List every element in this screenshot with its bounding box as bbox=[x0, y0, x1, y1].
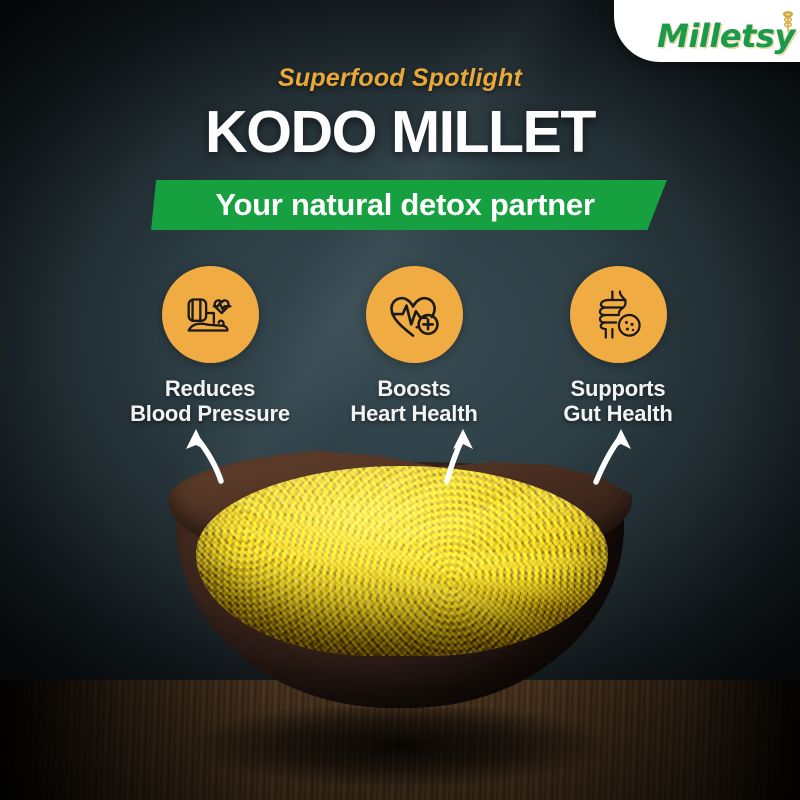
benefit-label-line2: Heart Health bbox=[319, 402, 509, 427]
benefit-icon-circle bbox=[162, 266, 259, 363]
logo-text: Milletsy bbox=[657, 20, 795, 52]
wooden-bowl bbox=[160, 448, 640, 718]
benefit-label: Reduces Blood Pressure bbox=[115, 377, 305, 426]
heart-pulse-plus-icon bbox=[384, 285, 444, 345]
product-scene bbox=[0, 440, 800, 800]
blood-pressure-monitor-icon bbox=[179, 284, 241, 346]
benefit-label-line1: Supports bbox=[523, 377, 713, 402]
page-title: KODO MILLET bbox=[0, 102, 800, 164]
benefit-label: Boosts Heart Health bbox=[319, 377, 509, 426]
eyebrow-text: Superfood Spotlight bbox=[0, 64, 800, 93]
tagline-banner: Your natural detox partner bbox=[151, 180, 667, 230]
benefit-item-blood-pressure: Reduces Blood Pressure bbox=[115, 266, 305, 426]
benefit-label-line2: Blood Pressure bbox=[115, 402, 305, 427]
benefit-label-line1: Boosts bbox=[319, 377, 509, 402]
poster-canvas: Milletsy Superfood Spotlight KODO MILLET… bbox=[0, 0, 800, 800]
benefit-icon-circle bbox=[570, 266, 667, 363]
bowl-cast-shadow bbox=[130, 708, 670, 800]
logo-wrap: Milletsy bbox=[657, 20, 795, 52]
wheat-stalk-icon bbox=[777, 7, 799, 33]
grain-shading-overlay bbox=[196, 466, 608, 656]
benefit-item-heart-health: Boosts Heart Health bbox=[319, 266, 509, 426]
benefit-label-line2: Gut Health bbox=[523, 402, 713, 427]
benefit-icon-circle bbox=[366, 266, 463, 363]
kodo-millet-grains bbox=[196, 466, 608, 656]
intestine-probiotic-icon bbox=[588, 285, 648, 345]
benefit-item-gut-health: Supports Gut Health bbox=[523, 266, 713, 426]
tagline-text: Your natural detox partner bbox=[215, 187, 594, 223]
benefit-label-line1: Reduces bbox=[115, 377, 305, 402]
brand-logo-badge[interactable]: Milletsy bbox=[614, 0, 800, 62]
benefit-label: Supports Gut Health bbox=[523, 377, 713, 426]
